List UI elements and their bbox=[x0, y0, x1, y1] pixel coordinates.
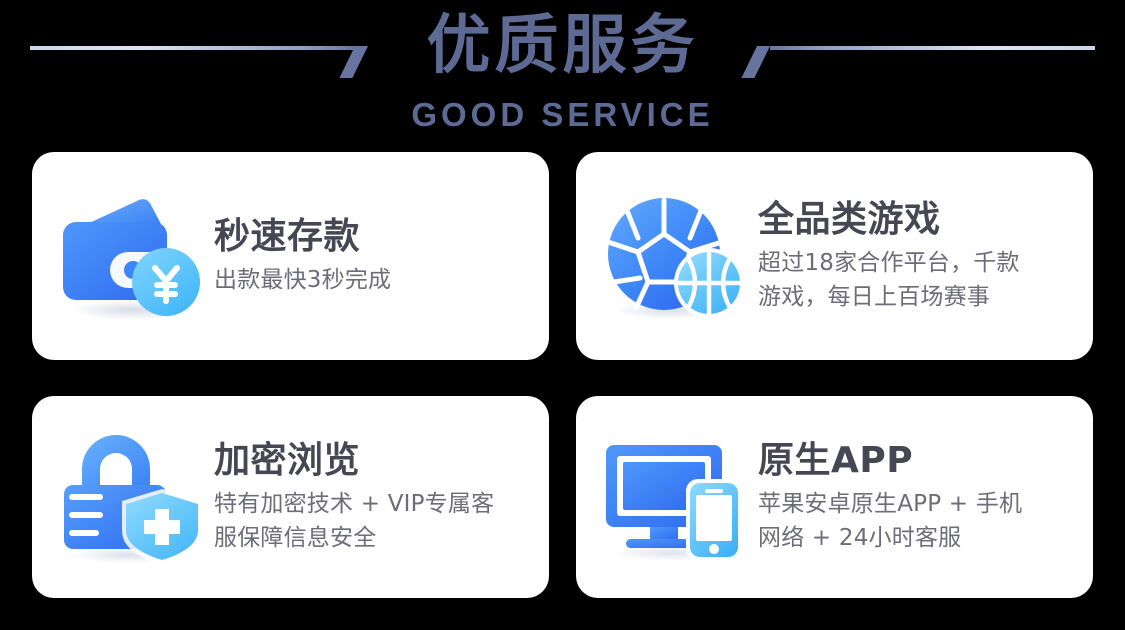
service-card-title: 秒速存款 bbox=[214, 215, 533, 259]
service-card-title: 全品类游戏 bbox=[758, 198, 1077, 242]
service-card-text: 秒速存款 出款最快3秒完成 bbox=[214, 215, 549, 297]
wallet-yen-icon bbox=[54, 186, 214, 326]
monitor-phone-icon bbox=[598, 427, 758, 567]
page-subtitle: GOOD SERVICE bbox=[0, 96, 1125, 134]
service-card-native-app[interactable]: 原生APP 苹果安卓原生APP + 手机 网络 + 24小时客服 bbox=[576, 396, 1093, 598]
page-header: 优质服务 GOOD SERVICE bbox=[0, 0, 1125, 148]
service-card-description: 苹果安卓原生APP + 手机 网络 + 24小时客服 bbox=[758, 487, 1077, 555]
service-card-text: 加密浏览 特有加密技术 + VIP专属客 服保障信息安全 bbox=[214, 439, 549, 555]
service-card-title: 原生APP bbox=[758, 439, 1077, 483]
page-title: 优质服务 bbox=[0, 6, 1125, 86]
service-card-encryption[interactable]: 加密浏览 特有加密技术 + VIP专属客 服保障信息安全 bbox=[32, 396, 549, 598]
service-card-games[interactable]: 全品类游戏 超过18家合作平台，千款 游戏，每日上百场赛事 bbox=[576, 152, 1093, 360]
service-card-title: 加密浏览 bbox=[214, 439, 533, 483]
lock-shield-icon bbox=[54, 427, 214, 567]
service-card-description: 特有加密技术 + VIP专属客 服保障信息安全 bbox=[214, 487, 533, 555]
service-card-text: 原生APP 苹果安卓原生APP + 手机 网络 + 24小时客服 bbox=[758, 439, 1093, 555]
service-card-grid: 秒速存款 出款最快3秒完成 bbox=[32, 152, 1093, 598]
service-card-description: 超过18家合作平台，千款 游戏，每日上百场赛事 bbox=[758, 246, 1077, 314]
service-card-text: 全品类游戏 超过18家合作平台，千款 游戏，每日上百场赛事 bbox=[758, 198, 1093, 314]
service-card-description: 出款最快3秒完成 bbox=[214, 263, 533, 297]
soccer-basketball-icon bbox=[598, 186, 758, 326]
service-card-deposit[interactable]: 秒速存款 出款最快3秒完成 bbox=[32, 152, 549, 360]
